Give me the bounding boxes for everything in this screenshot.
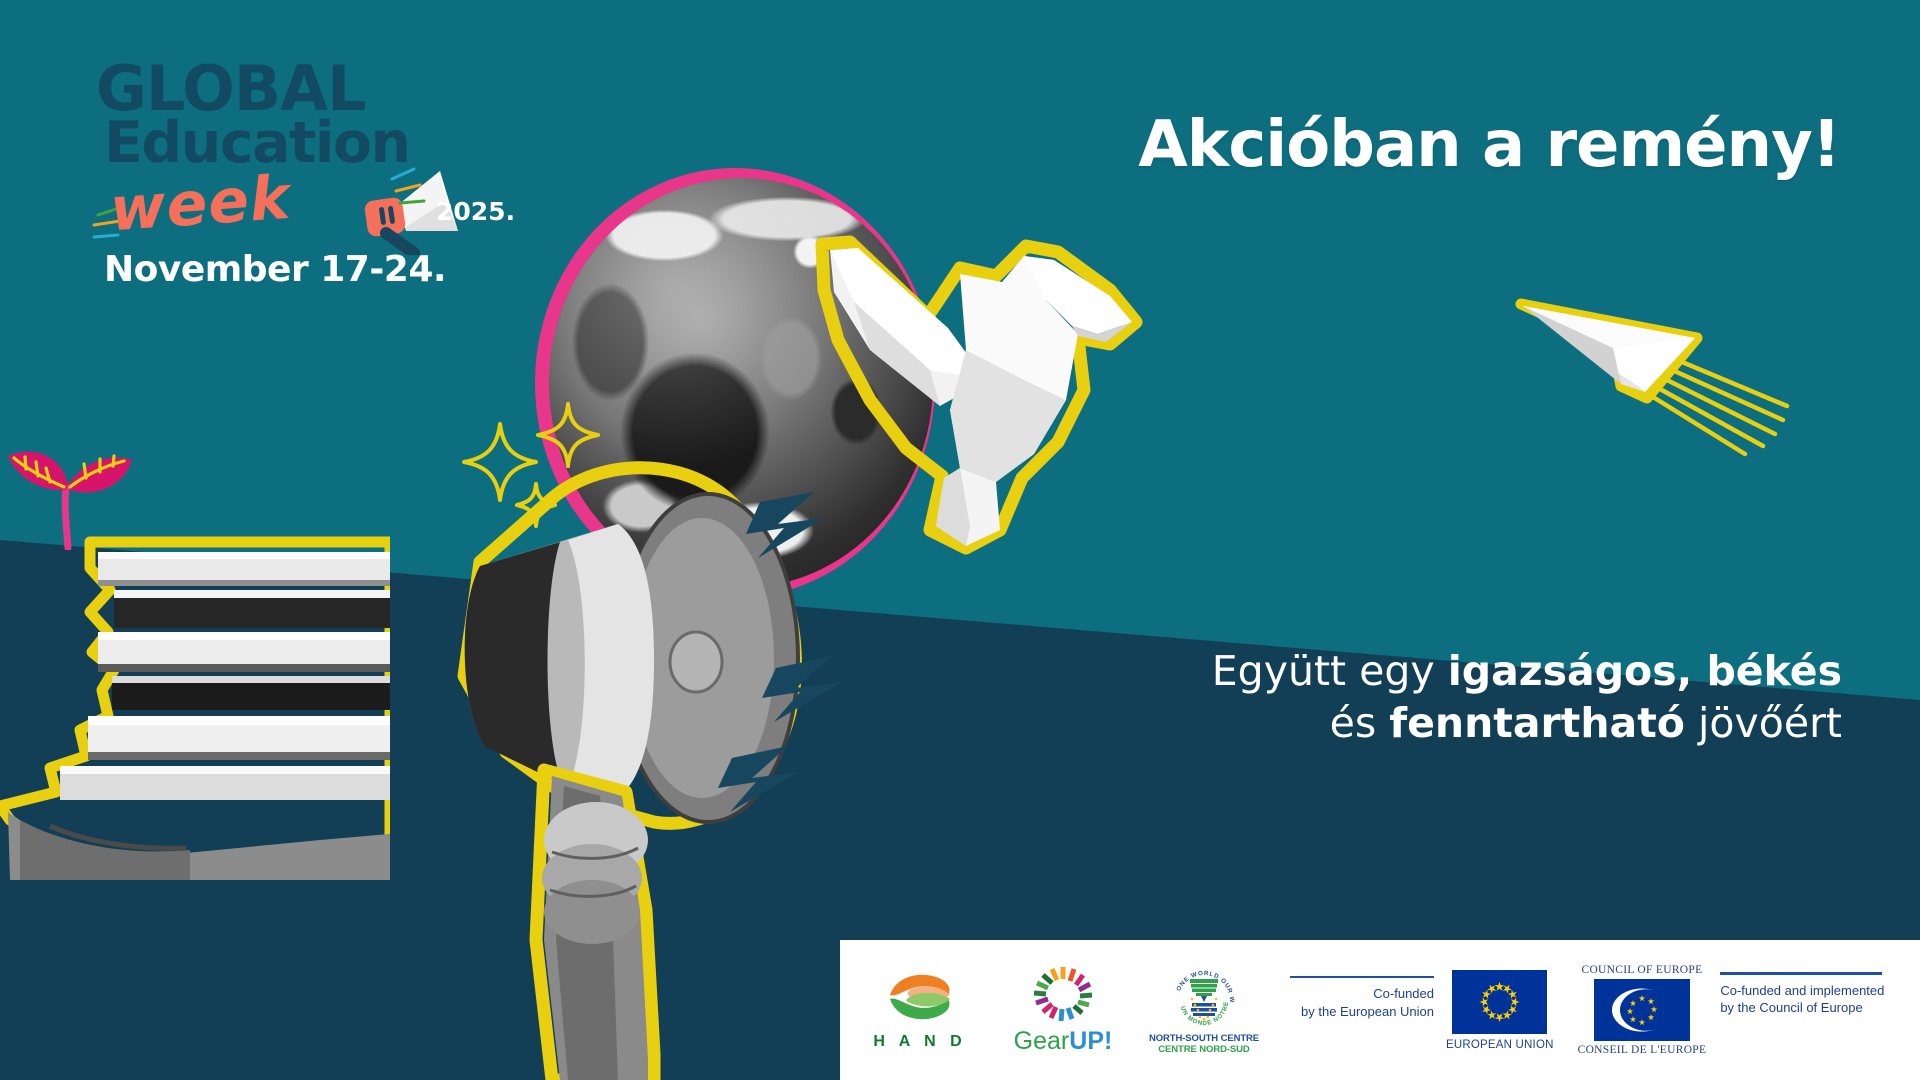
eu-flag-wrapper: EUROPEAN UNION [1446, 970, 1554, 1051]
coe-caption-line-1: Co-funded and implemented [1720, 982, 1884, 1000]
subtitle-line1-bold: igazságos, békés [1448, 647, 1842, 695]
coe-flag-label-top: COUNCIL OF EUROPE [1581, 964, 1702, 976]
logo-council-of-europe[interactable]: COUNCIL OF EUROPE [1578, 964, 1885, 1056]
coe-flag-icon [1594, 979, 1690, 1041]
poster-headline: Akcióban a remény! [1138, 108, 1840, 182]
hand-leaf-logo-mark [884, 969, 956, 1025]
subtitle-line-1: Együtt egy igazságos, békés [1212, 645, 1842, 697]
global-education-week-logo: GLOBAL Education week [96, 62, 526, 290]
logo-gearup-label-up: UP! [1069, 1027, 1112, 1055]
coe-caption: Co-funded and implemented by the Council… [1720, 964, 1884, 1017]
logo-gearup-label-gear: Gear [1014, 1027, 1070, 1055]
logo-nsc-line-1: NORTH-SOUTH CENTRE [1149, 1033, 1259, 1044]
subtitle-line2-plain: és [1330, 699, 1390, 747]
coe-caption-text: Co-funded and implemented by the Council… [1720, 982, 1884, 1017]
coe-caption-line-2: by the Council of Europe [1720, 999, 1884, 1017]
logo-european-union[interactable]: Co-funded by the European Union [1290, 970, 1554, 1051]
logo-week-row: week [96, 167, 526, 239]
logo-date: November 17-24. [104, 249, 526, 290]
logo-north-south-centre[interactable]: ONE WORLD OUR WORLD UN MONDE NOTRE MONDE [1144, 965, 1264, 1055]
logo-nsc-line-2: CENTRE NORD-SUD [1158, 1044, 1249, 1055]
logo-line-global: GLOBAL [96, 62, 526, 117]
eu-flag-icon [1452, 970, 1547, 1034]
megaphone-in-hand-image [440, 440, 870, 1080]
gearup-burst-logo-mark [1031, 965, 1095, 1023]
coe-flag-label-bottom: CONSEIL DE L'EUROPE [1578, 1044, 1707, 1056]
eu-caption-rule [1290, 976, 1434, 979]
logo-gearup[interactable]: GearUP! [1000, 965, 1126, 1056]
eu-flag-label: EUROPEAN UNION [1446, 1039, 1554, 1051]
coe-flag-wrapper: COUNCIL OF EUROPE [1578, 964, 1707, 1056]
logo-hand[interactable]: H A N D [862, 969, 978, 1051]
north-south-centre-globe-mark: ONE WORLD OUR WORLD UN MONDE NOTRE MONDE [1170, 965, 1238, 1031]
paper-airplane-image [1495, 280, 1795, 470]
logo-gearup-label: GearUP! [1014, 1027, 1113, 1056]
eu-caption-line-2: by the European Union [1290, 1003, 1434, 1021]
stack-of-books-in-hand-image [0, 520, 390, 880]
logo-line-week: week [108, 163, 293, 245]
logo-year: 2025. [436, 197, 515, 226]
subtitle-line2-tail: jövőért [1685, 699, 1842, 747]
sparkle-burst-icon-right [384, 161, 444, 217]
coe-caption-rule [1720, 972, 1882, 975]
poster-subtitle: Együtt egy igazságos, békés és fenntarth… [1212, 645, 1842, 750]
poster-canvas: GLOBAL Education week [0, 0, 1920, 1080]
footer-logo-bar: H A N D [840, 940, 1920, 1080]
eu-caption-text: Co-funded by the European Union [1290, 985, 1434, 1020]
subtitle-line1-plain: Együtt egy [1212, 647, 1448, 695]
eu-caption: Co-funded by the European Union [1290, 970, 1434, 1021]
logo-hand-label: H A N D [873, 1033, 966, 1051]
logo-line-education: Education [104, 117, 526, 169]
subtitle-line2-bold: fenntartható [1389, 699, 1685, 747]
subtitle-line-2: és fenntartható jövőért [1212, 697, 1842, 749]
eu-caption-line-1: Co-funded [1290, 985, 1434, 1003]
